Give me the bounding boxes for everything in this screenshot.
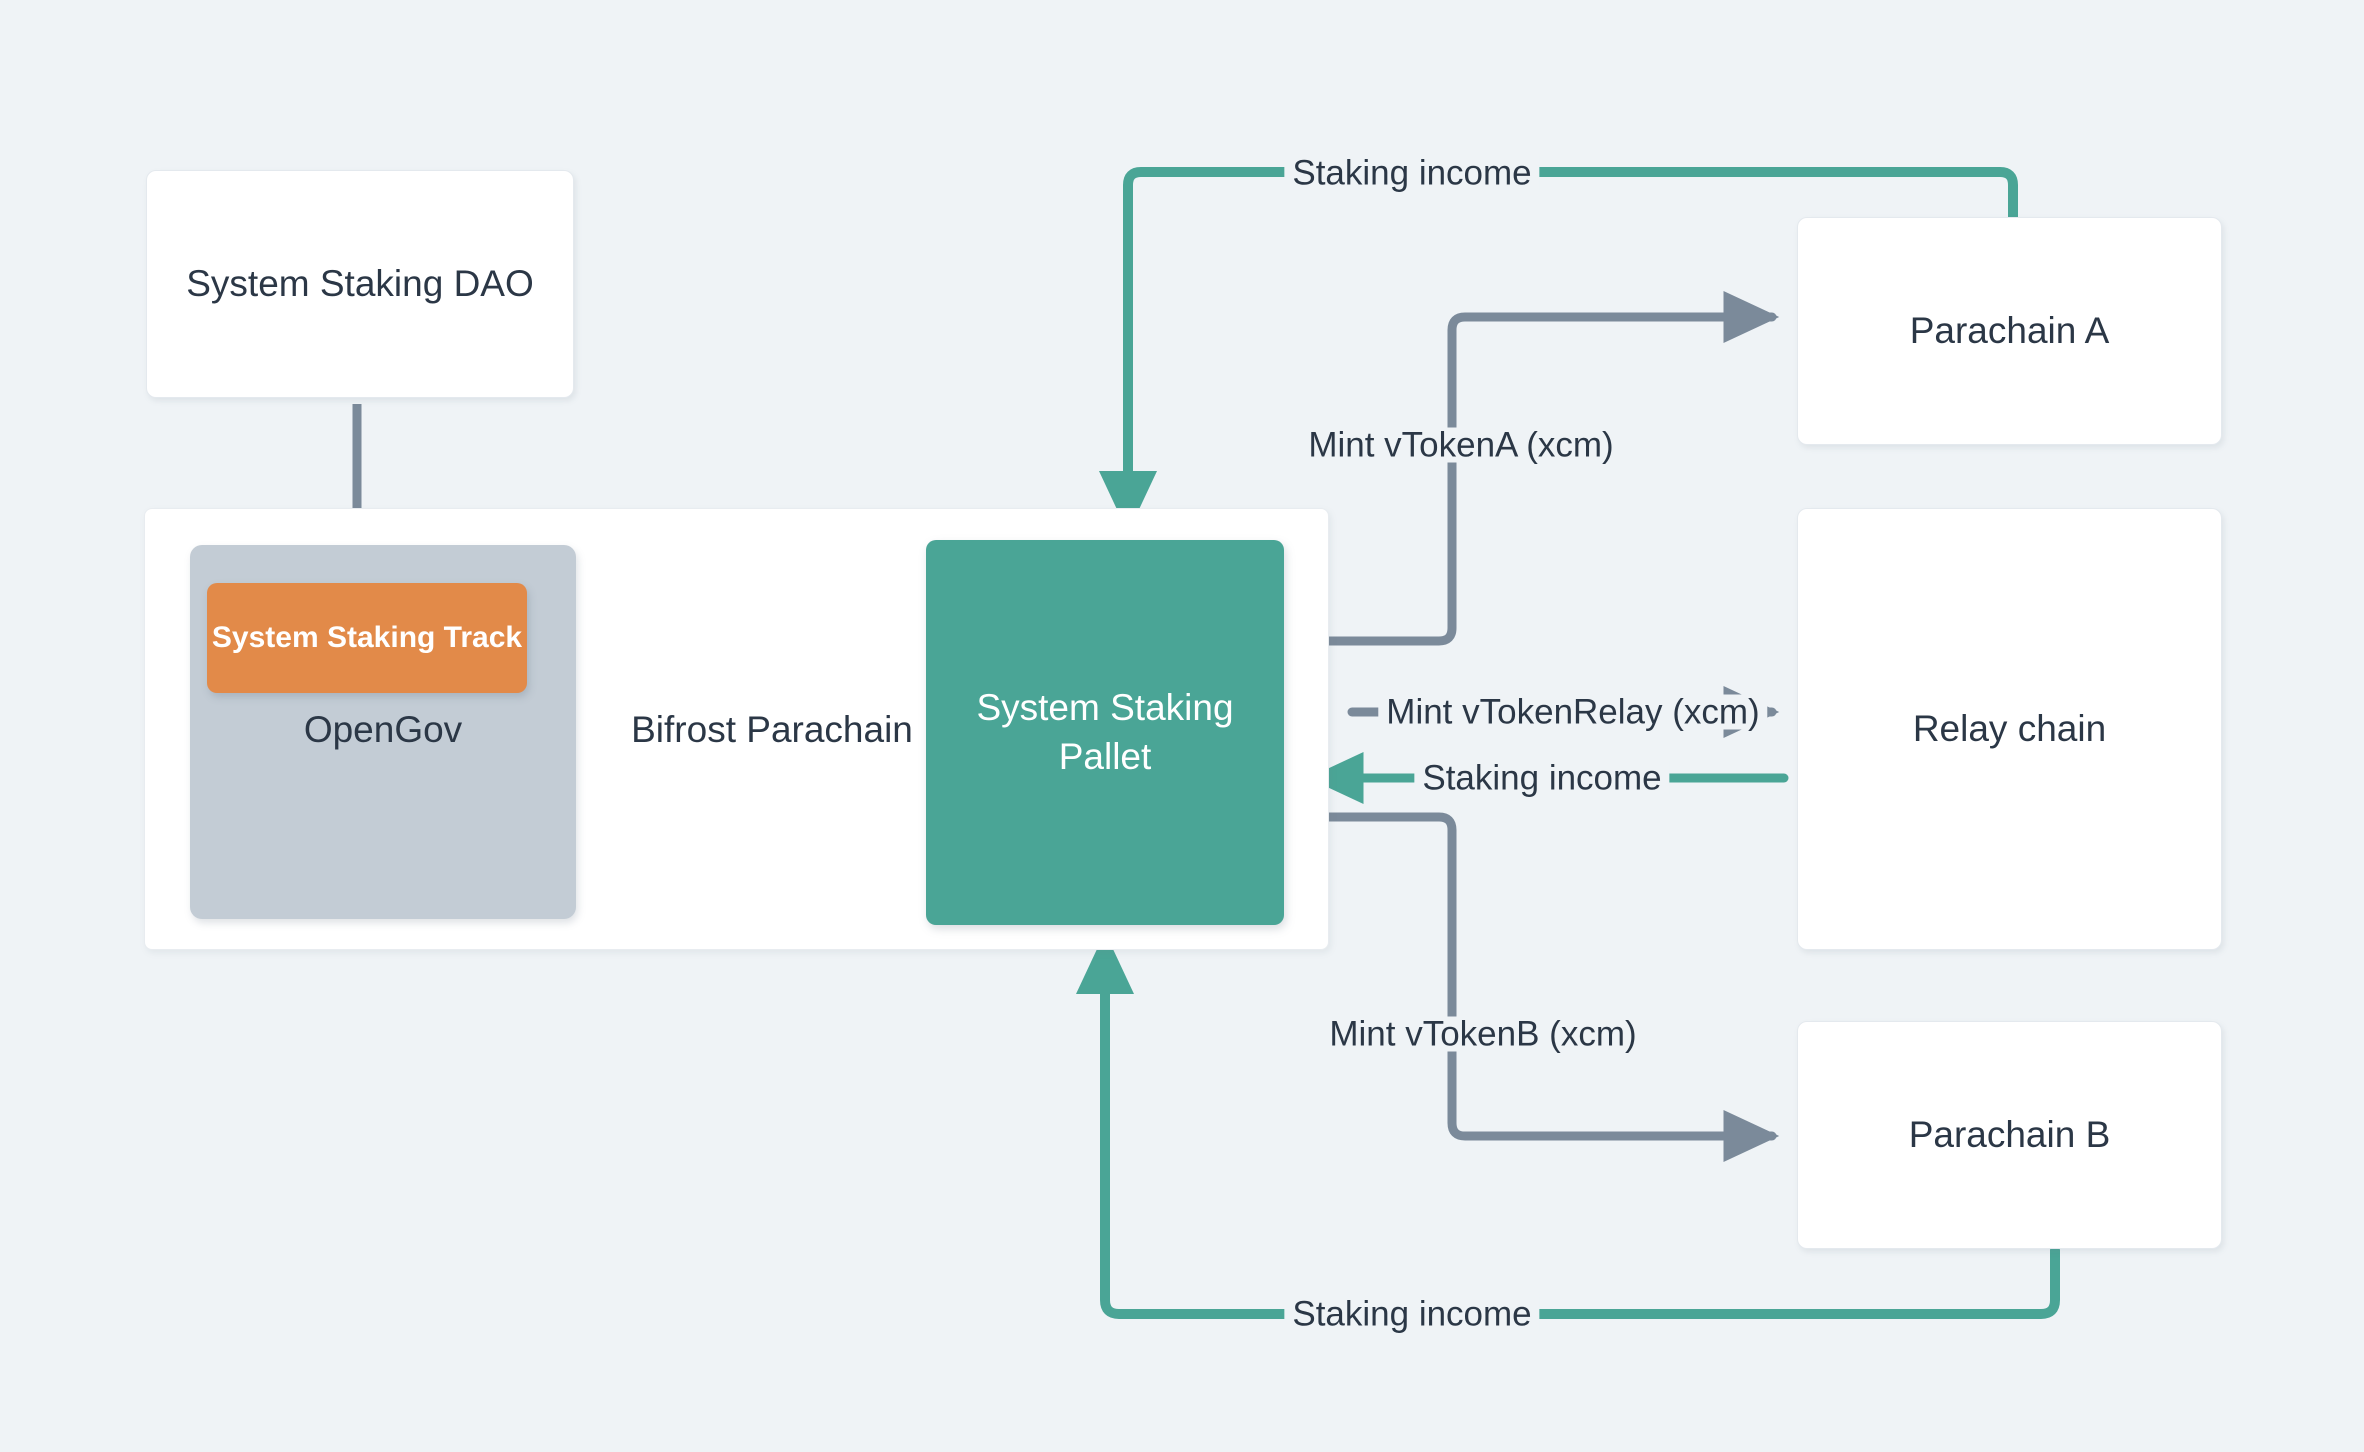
node-relay-chain[interactable]: Relay chain (1797, 508, 2222, 950)
edge-label-mint-vtoken-relay: Mint vTokenRelay (xcm) (1378, 695, 1767, 730)
node-system-staking-pallet-label: System Staking Pallet (976, 684, 1233, 782)
edge-label-mint-vtoken-b: Mint vTokenB (xcm) (1321, 1017, 1644, 1052)
node-parachain-a[interactable]: Parachain A (1797, 217, 2222, 445)
node-system-staking-pallet[interactable]: System Staking Pallet (926, 540, 1284, 925)
node-relay-chain-label: Relay chain (1913, 708, 2106, 750)
edge-label-staking-income-top: Staking income (1284, 156, 1539, 191)
node-parachain-b[interactable]: Parachain B (1797, 1021, 2222, 1249)
edge-label-mint-vtoken-a: Mint vTokenA (xcm) (1300, 428, 1621, 463)
edge-label-staking-income-bottom: Staking income (1284, 1297, 1539, 1332)
panel-bifrost-parachain-label: Bifrost Parachain (610, 709, 934, 751)
node-parachain-b-label: Parachain B (1909, 1114, 2111, 1156)
edge-mint-vtoken-b (1285, 817, 1772, 1136)
node-system-staking-pallet-line1: System Staking (976, 687, 1233, 728)
node-parachain-a-label: Parachain A (1910, 310, 2110, 352)
edge-mint-vtoken-a (1285, 317, 1772, 641)
node-system-staking-dao-label: System Staking DAO (186, 263, 534, 305)
node-system-staking-track-label: System Staking Track (212, 621, 522, 655)
node-system-staking-pallet-line2: Pallet (1059, 736, 1152, 777)
node-system-staking-track[interactable]: System Staking Track (207, 583, 527, 693)
edge-label-staking-income-relay: Staking income (1414, 761, 1669, 796)
diagram-canvas: System Staking DAO System Staking Track … (0, 0, 2364, 1452)
node-system-staking-dao[interactable]: System Staking DAO (146, 170, 574, 398)
node-opengov-label: OpenGov (190, 709, 576, 751)
